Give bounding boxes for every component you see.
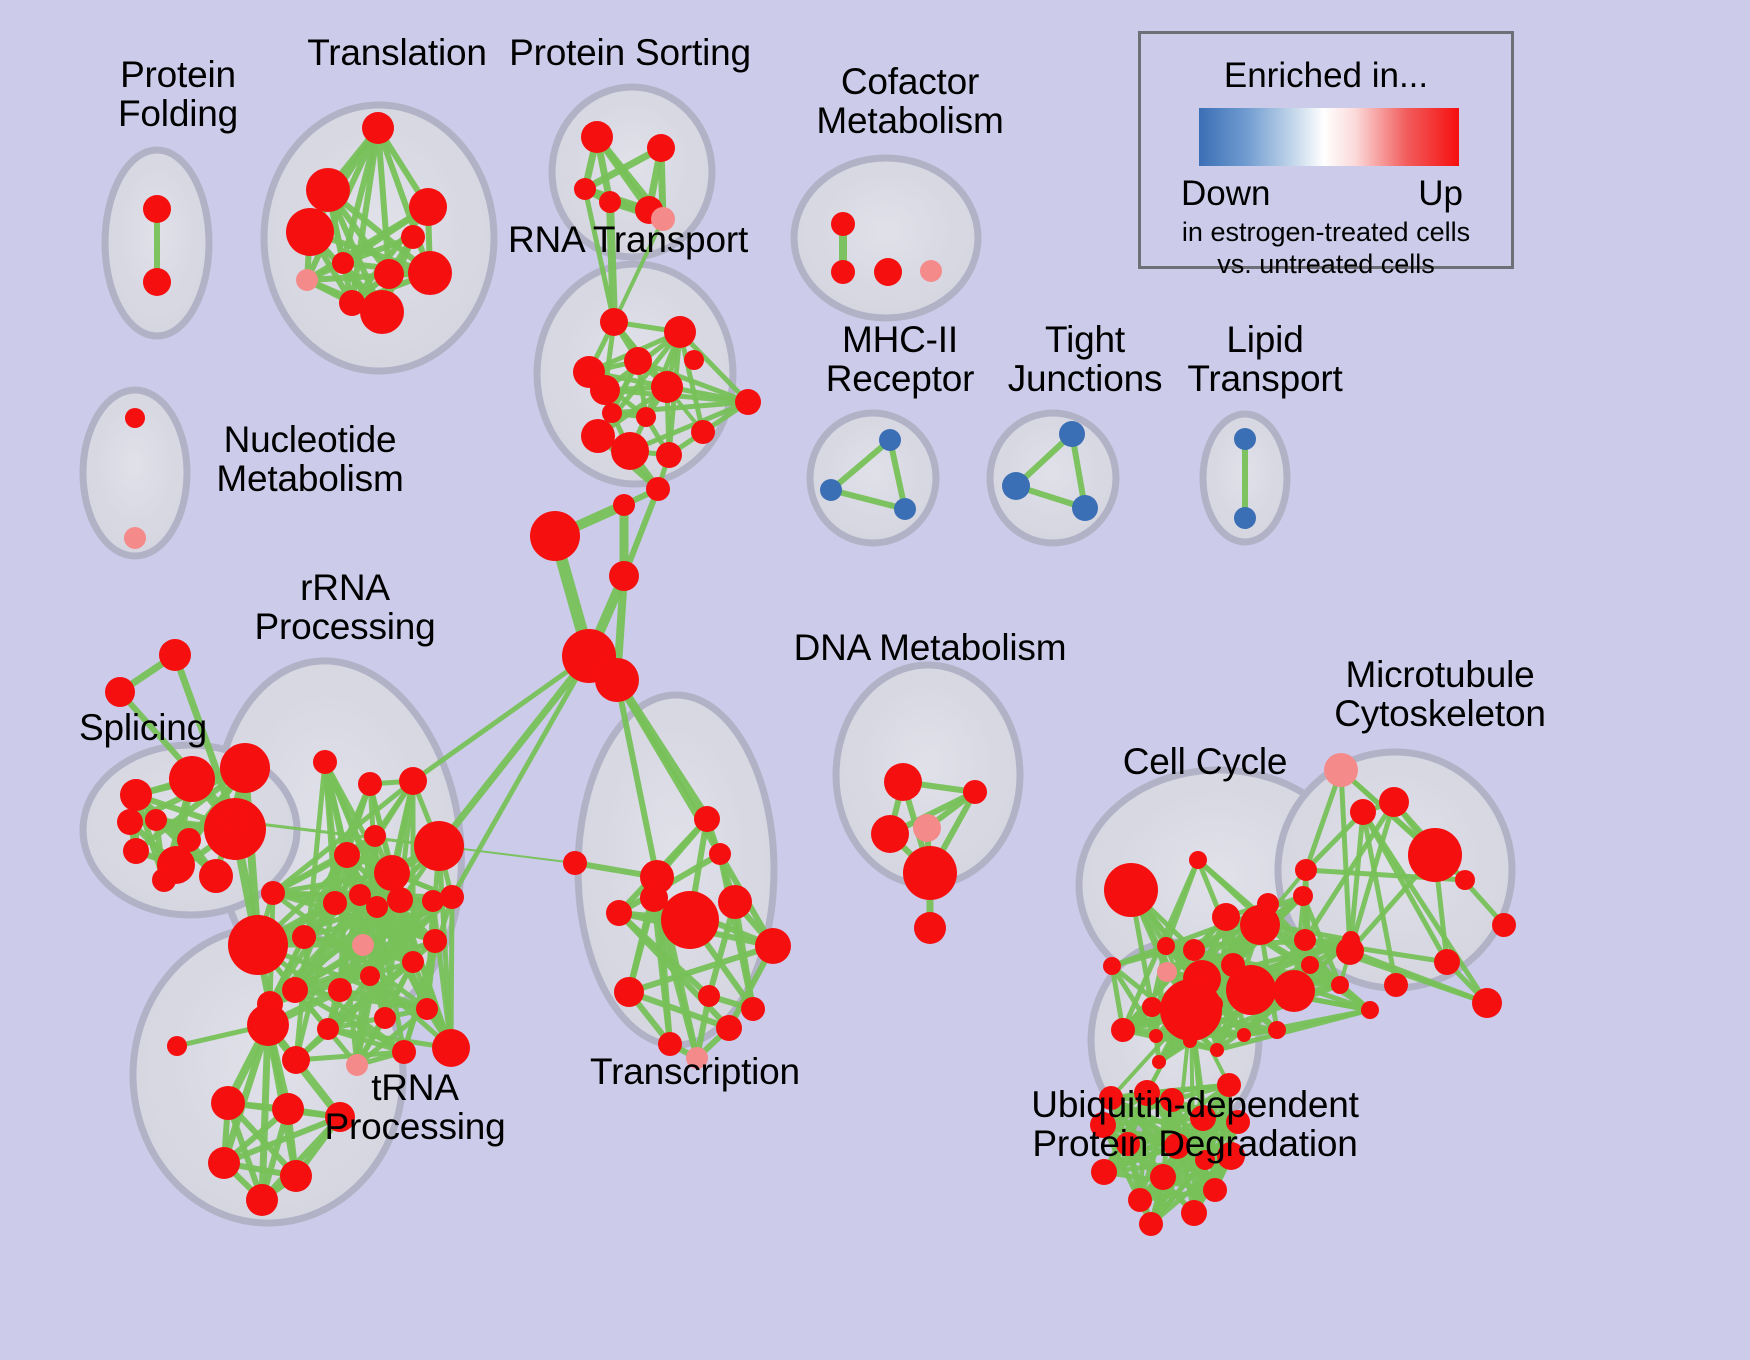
graph-node (1293, 886, 1313, 906)
graph-node (143, 268, 171, 296)
graph-node (563, 851, 587, 875)
graph-node (595, 658, 639, 702)
graph-node (1059, 421, 1085, 447)
graph-node (1183, 939, 1205, 961)
graph-node (581, 419, 615, 453)
graph-node (1072, 495, 1098, 521)
graph-node (334, 842, 360, 868)
graph-node (362, 112, 394, 144)
cluster-label-lipid-transport: Lipid Transport (1155, 320, 1375, 398)
legend-up-label: Up (1418, 174, 1463, 214)
graph-node (401, 225, 425, 249)
graph-node (1152, 1055, 1166, 1069)
graph-node (247, 1004, 289, 1046)
graph-node (914, 912, 946, 944)
graph-node (177, 828, 201, 852)
graph-node (1157, 937, 1175, 955)
graph-node (1336, 937, 1364, 965)
graph-node (1384, 973, 1408, 997)
graph-node (963, 780, 987, 804)
graph-node (1128, 1188, 1152, 1212)
graph-node (199, 859, 233, 893)
graph-node (1149, 1029, 1163, 1043)
graph-node (399, 767, 427, 795)
graph-node (1237, 1028, 1251, 1042)
graph-node (871, 815, 909, 853)
graph-node (1160, 979, 1222, 1041)
graph-node (145, 809, 167, 831)
cluster-label-splicing: Splicing (48, 708, 238, 747)
graph-node (402, 951, 424, 973)
graph-node (1226, 965, 1276, 1015)
cluster-label-rrna-processing: rRNA Processing (230, 568, 460, 646)
graph-node (691, 420, 715, 444)
graph-node (611, 432, 649, 470)
graph-node (590, 375, 620, 405)
graph-node (223, 809, 247, 833)
cluster-label-ubiquitin-degradation: Ubiquitin-dependent Protein Degradation (985, 1085, 1405, 1163)
graph-node (1139, 1212, 1163, 1236)
graph-node (125, 408, 145, 428)
graph-node (1142, 997, 1162, 1017)
graph-node (661, 891, 719, 949)
graph-node (1111, 1018, 1135, 1042)
graph-node (716, 1015, 742, 1041)
graph-node (894, 498, 916, 520)
graph-node (1212, 903, 1240, 931)
cluster-label-trna-processing: tRNA Processing (300, 1068, 530, 1146)
graph-node (306, 168, 350, 212)
graph-node (352, 934, 374, 956)
graph-node (684, 350, 704, 370)
graph-node (1408, 828, 1462, 882)
graph-node (1295, 859, 1317, 881)
legend-panel: Enriched in... Down Up in estrogen-treat… (1138, 31, 1514, 269)
graph-node (1273, 970, 1315, 1012)
graph-node (646, 477, 670, 501)
cluster-label-transcription: Transcription (565, 1052, 825, 1091)
graph-node (313, 750, 337, 774)
graph-node (387, 887, 413, 913)
graph-node (1472, 988, 1502, 1018)
graph-node (1203, 1178, 1227, 1202)
graph-node (1379, 787, 1409, 817)
graph-node (169, 756, 215, 802)
cluster-ellipse-cofactor-metabolism (794, 158, 978, 318)
graph-node (323, 891, 347, 915)
graph-node (280, 1160, 312, 1192)
graph-node (636, 407, 656, 427)
graph-node (374, 259, 404, 289)
cluster-ellipse-mhc-ii (810, 413, 936, 543)
graph-node (408, 251, 452, 295)
graph-node (741, 997, 765, 1021)
graph-edge (451, 897, 452, 1048)
graph-node (1234, 507, 1256, 529)
cluster-label-cell-cycle: Cell Cycle (1090, 742, 1320, 781)
graph-node (1324, 753, 1358, 787)
cluster-label-cofactor-metabolism: Cofactor Metabolism (790, 62, 1030, 140)
graph-node (614, 977, 644, 1007)
graph-node (913, 814, 941, 842)
graph-node (1350, 799, 1376, 825)
graph-node (884, 763, 922, 801)
graph-node (609, 561, 639, 591)
graph-node (831, 260, 855, 284)
graph-node (656, 442, 682, 468)
graph-node (123, 838, 149, 864)
cluster-label-dna-metabolism: DNA Metabolism (790, 628, 1070, 667)
graph-node (374, 855, 410, 891)
graph-node (332, 252, 354, 274)
graph-node (874, 258, 902, 286)
graph-node (1455, 870, 1475, 890)
graph-node (124, 527, 146, 549)
graph-node (1234, 428, 1256, 450)
graph-node (296, 269, 318, 291)
graph-node (1104, 863, 1158, 917)
cluster-label-translation: Translation (282, 33, 512, 72)
graph-node (143, 195, 171, 223)
graph-node (423, 929, 447, 953)
graph-node (831, 212, 855, 236)
graph-node (613, 494, 635, 516)
graph-node (292, 925, 316, 949)
graph-node (220, 743, 270, 793)
graph-node (600, 308, 628, 336)
graph-node (286, 208, 334, 256)
graph-node (651, 371, 683, 403)
cluster-label-rna-transport: RNA Transport (498, 220, 758, 259)
graph-node (1331, 976, 1349, 994)
graph-node (392, 1040, 416, 1064)
graph-node (709, 843, 731, 865)
graph-node (364, 825, 386, 847)
graph-node (664, 316, 696, 348)
graph-node (211, 1086, 245, 1120)
graph-node (1492, 913, 1516, 937)
graph-node (903, 846, 957, 900)
graph-node (1157, 962, 1177, 982)
graph-node (694, 806, 720, 832)
cluster-label-protein-sorting: Protein Sorting (500, 33, 760, 72)
graph-node (167, 1036, 187, 1056)
graph-node (530, 511, 580, 561)
graph-node (581, 121, 613, 153)
graph-node (366, 896, 388, 918)
graph-node (755, 928, 791, 964)
graph-node (1189, 851, 1207, 869)
graph-node (1240, 905, 1280, 945)
graph-node (228, 915, 288, 975)
graph-node (208, 1147, 240, 1179)
graph-edge (439, 656, 589, 846)
graph-node (1268, 1021, 1286, 1039)
graph-node (920, 260, 942, 282)
legend-title: Enriched in... (1141, 56, 1511, 96)
graph-node (1002, 472, 1030, 500)
legend-color-gradient-bar (1199, 108, 1459, 166)
graph-node (152, 868, 176, 892)
graph-node (1361, 1001, 1379, 1019)
graph-node (159, 639, 191, 671)
graph-node (317, 1018, 339, 1040)
graph-node (735, 389, 761, 415)
graph-node (574, 178, 596, 200)
graph-node (105, 677, 135, 707)
graph-node (698, 985, 720, 1007)
graph-node (647, 134, 675, 162)
graph-node (117, 809, 143, 835)
graph-node (820, 479, 842, 501)
graph-node (624, 347, 652, 375)
graph-node (1103, 957, 1121, 975)
graph-node (1301, 956, 1319, 974)
graph-node (360, 966, 380, 986)
graph-node (879, 429, 901, 451)
graph-node (416, 998, 438, 1020)
graph-node (358, 772, 382, 796)
graph-node (360, 290, 404, 334)
graph-node (282, 977, 308, 1003)
cluster-label-protein-folding: Protein Folding (78, 55, 278, 133)
graph-node (409, 188, 447, 226)
graph-node (328, 978, 352, 1002)
graph-node (414, 821, 464, 871)
graph-node (1294, 929, 1316, 951)
graph-node (718, 885, 752, 919)
graph-node (440, 885, 464, 909)
graph-node (246, 1184, 278, 1216)
legend-subtitle: in estrogen-treated cells vs. untreated … (1141, 217, 1511, 281)
graph-node (1434, 949, 1460, 975)
graph-node (606, 900, 632, 926)
graph-node (1210, 1043, 1224, 1057)
graph-node (602, 403, 622, 423)
cluster-label-nucleotide-metabolism: Nucleotide Metabolism (185, 420, 435, 498)
graph-node (261, 881, 285, 905)
graph-node (1181, 1200, 1207, 1226)
legend-down-label: Down (1181, 174, 1270, 214)
enrichment-map-figure: Protein Folding Translation Protein Sort… (0, 0, 1750, 1360)
graph-node (120, 779, 152, 811)
cluster-label-microtubule-cytoskeleton: Microtubule Cytoskeleton (1290, 655, 1590, 733)
graph-node (432, 1029, 470, 1067)
graph-node (599, 191, 621, 213)
graph-node (1150, 1164, 1176, 1190)
graph-node (374, 1007, 396, 1029)
